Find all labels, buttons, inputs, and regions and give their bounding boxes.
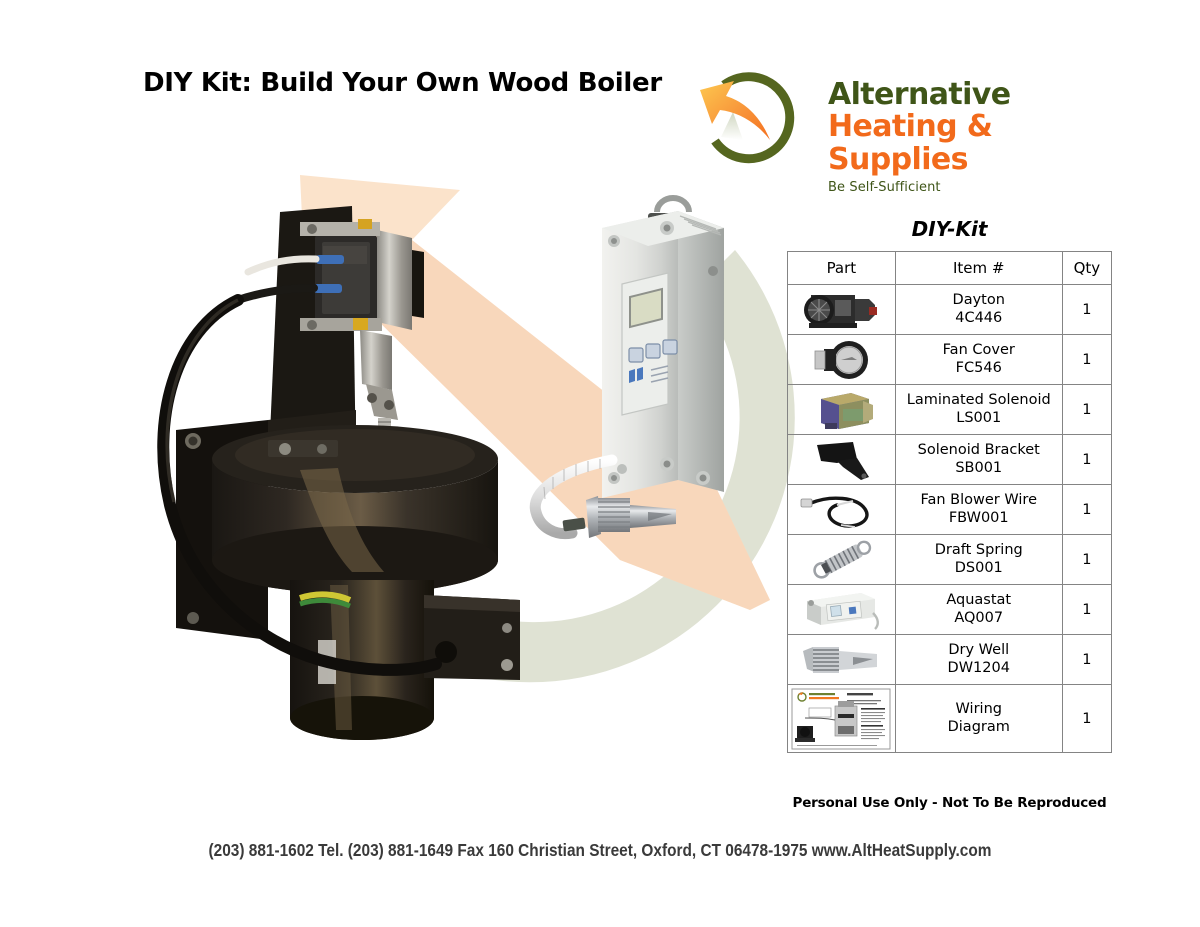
item-cell: Fan Cover FC546 [895, 335, 1062, 385]
qty-cell: 1 [1062, 685, 1111, 753]
table-header-row: Part Item # Qty [788, 252, 1112, 285]
item-name: Laminated Solenoid [907, 392, 1051, 408]
item-cell: Dayton 4C446 [895, 285, 1062, 335]
wood-boiler-blower-assembly-photo [163, 206, 520, 740]
table-row: Solenoid Bracket SB001 1 [788, 435, 1112, 485]
table-row: Fan Cover FC546 1 [788, 335, 1112, 385]
table-title: DIY-Kit [787, 217, 1112, 241]
qty-cell: 1 [1062, 435, 1111, 485]
item-code: DW1204 [948, 660, 1010, 676]
item-cell: Fan Blower Wire FBW001 [895, 485, 1062, 535]
part-thumb-cell [788, 635, 896, 685]
item-cell: Laminated Solenoid LS001 [895, 385, 1062, 435]
table-row: Dayton 4C446 1 [788, 285, 1112, 335]
fan-blower-wire-thumb [791, 487, 891, 533]
item-name: Dry Well [948, 642, 1009, 658]
column-header-qty: Qty [1062, 252, 1111, 285]
qty-cell: 1 [1062, 335, 1111, 385]
table-row: Laminated Solenoid LS001 1 [788, 385, 1112, 435]
part-thumb-cell [788, 335, 896, 385]
item-code: Diagram [948, 719, 1010, 735]
item-cell: Dry Well DW1204 [895, 635, 1062, 685]
fan-cover-thumb [791, 337, 891, 383]
table-row: Wiring Diagram 1 [788, 685, 1112, 753]
qty-cell: 1 [1062, 535, 1111, 585]
item-code: FC546 [956, 360, 1002, 376]
footer-contact-info: (203) 881-1602 Tel. (203) 881-1649 Fax 1… [72, 840, 1128, 861]
item-name: Solenoid Bracket [918, 442, 1040, 458]
laminated-solenoid-thumb [791, 387, 891, 433]
table-row: Draft Spring DS001 1 [788, 535, 1112, 585]
item-name: Draft Spring [935, 542, 1023, 558]
part-thumb-cell [788, 585, 896, 635]
logo-tagline: Be Self-Sufficient [828, 180, 1130, 195]
column-header-item: Item # [895, 252, 1062, 285]
qty-cell: 1 [1062, 385, 1111, 435]
item-code: SB001 [955, 460, 1002, 476]
aquastat-thumb [791, 587, 891, 633]
item-name: Fan Blower Wire [920, 492, 1037, 508]
solenoid-bracket-thumb [791, 437, 891, 483]
page-title: DIY Kit: Build Your Own Wood Boiler [143, 68, 662, 98]
logo-line-alternative: Alternative [828, 80, 1130, 110]
column-header-part: Part [788, 252, 896, 285]
wiring-diagram-thumb [791, 688, 891, 750]
copyright-note: Personal Use Only - Not To Be Reproduced [787, 795, 1112, 811]
table-row: Fan Blower Wire FBW001 1 [788, 485, 1112, 535]
item-code: FBW001 [949, 510, 1009, 526]
part-thumb-cell [788, 285, 896, 335]
part-thumb-cell [788, 435, 896, 485]
logo-line-heating-supplies: Heating & Supplies [828, 110, 1130, 176]
company-logo: Alternative Heating & Supplies Be Self-S… [690, 62, 1130, 177]
qty-cell: 1 [1062, 585, 1111, 635]
item-code: DS001 [955, 560, 1003, 576]
item-cell: Aquastat AQ007 [895, 585, 1062, 635]
qty-cell: 1 [1062, 285, 1111, 335]
product-photo-group [0, 0, 790, 820]
qty-cell: 1 [1062, 485, 1111, 535]
item-cell: Solenoid Bracket SB001 [895, 435, 1062, 485]
item-cell: Wiring Diagram [895, 685, 1062, 753]
part-thumb-cell [788, 535, 896, 585]
circle-arrow-logo-icon [690, 68, 812, 176]
aquastat-controller-photo [602, 198, 724, 498]
item-code: LS001 [956, 410, 1001, 426]
qty-cell: 1 [1062, 635, 1111, 685]
item-name: Aquastat [946, 592, 1011, 608]
item-code: 4C446 [955, 310, 1002, 326]
part-thumb-cell [788, 485, 896, 535]
item-name: Wiring [956, 701, 1002, 717]
part-thumb-cell [788, 685, 896, 753]
table-row: Dry Well DW1204 1 [788, 635, 1112, 685]
item-cell: Draft Spring DS001 [895, 535, 1062, 585]
dry-well-thumb [791, 637, 891, 683]
draft-spring-thumb [791, 537, 891, 583]
item-name: Fan Cover [943, 342, 1015, 358]
blower-fan-thumb [791, 287, 891, 333]
item-name: Dayton [953, 292, 1005, 308]
item-code: AQ007 [954, 610, 1003, 626]
part-thumb-cell [788, 385, 896, 435]
table-row: Aquastat AQ007 1 [788, 585, 1112, 635]
parts-table: Part Item # Qty [787, 251, 1112, 753]
